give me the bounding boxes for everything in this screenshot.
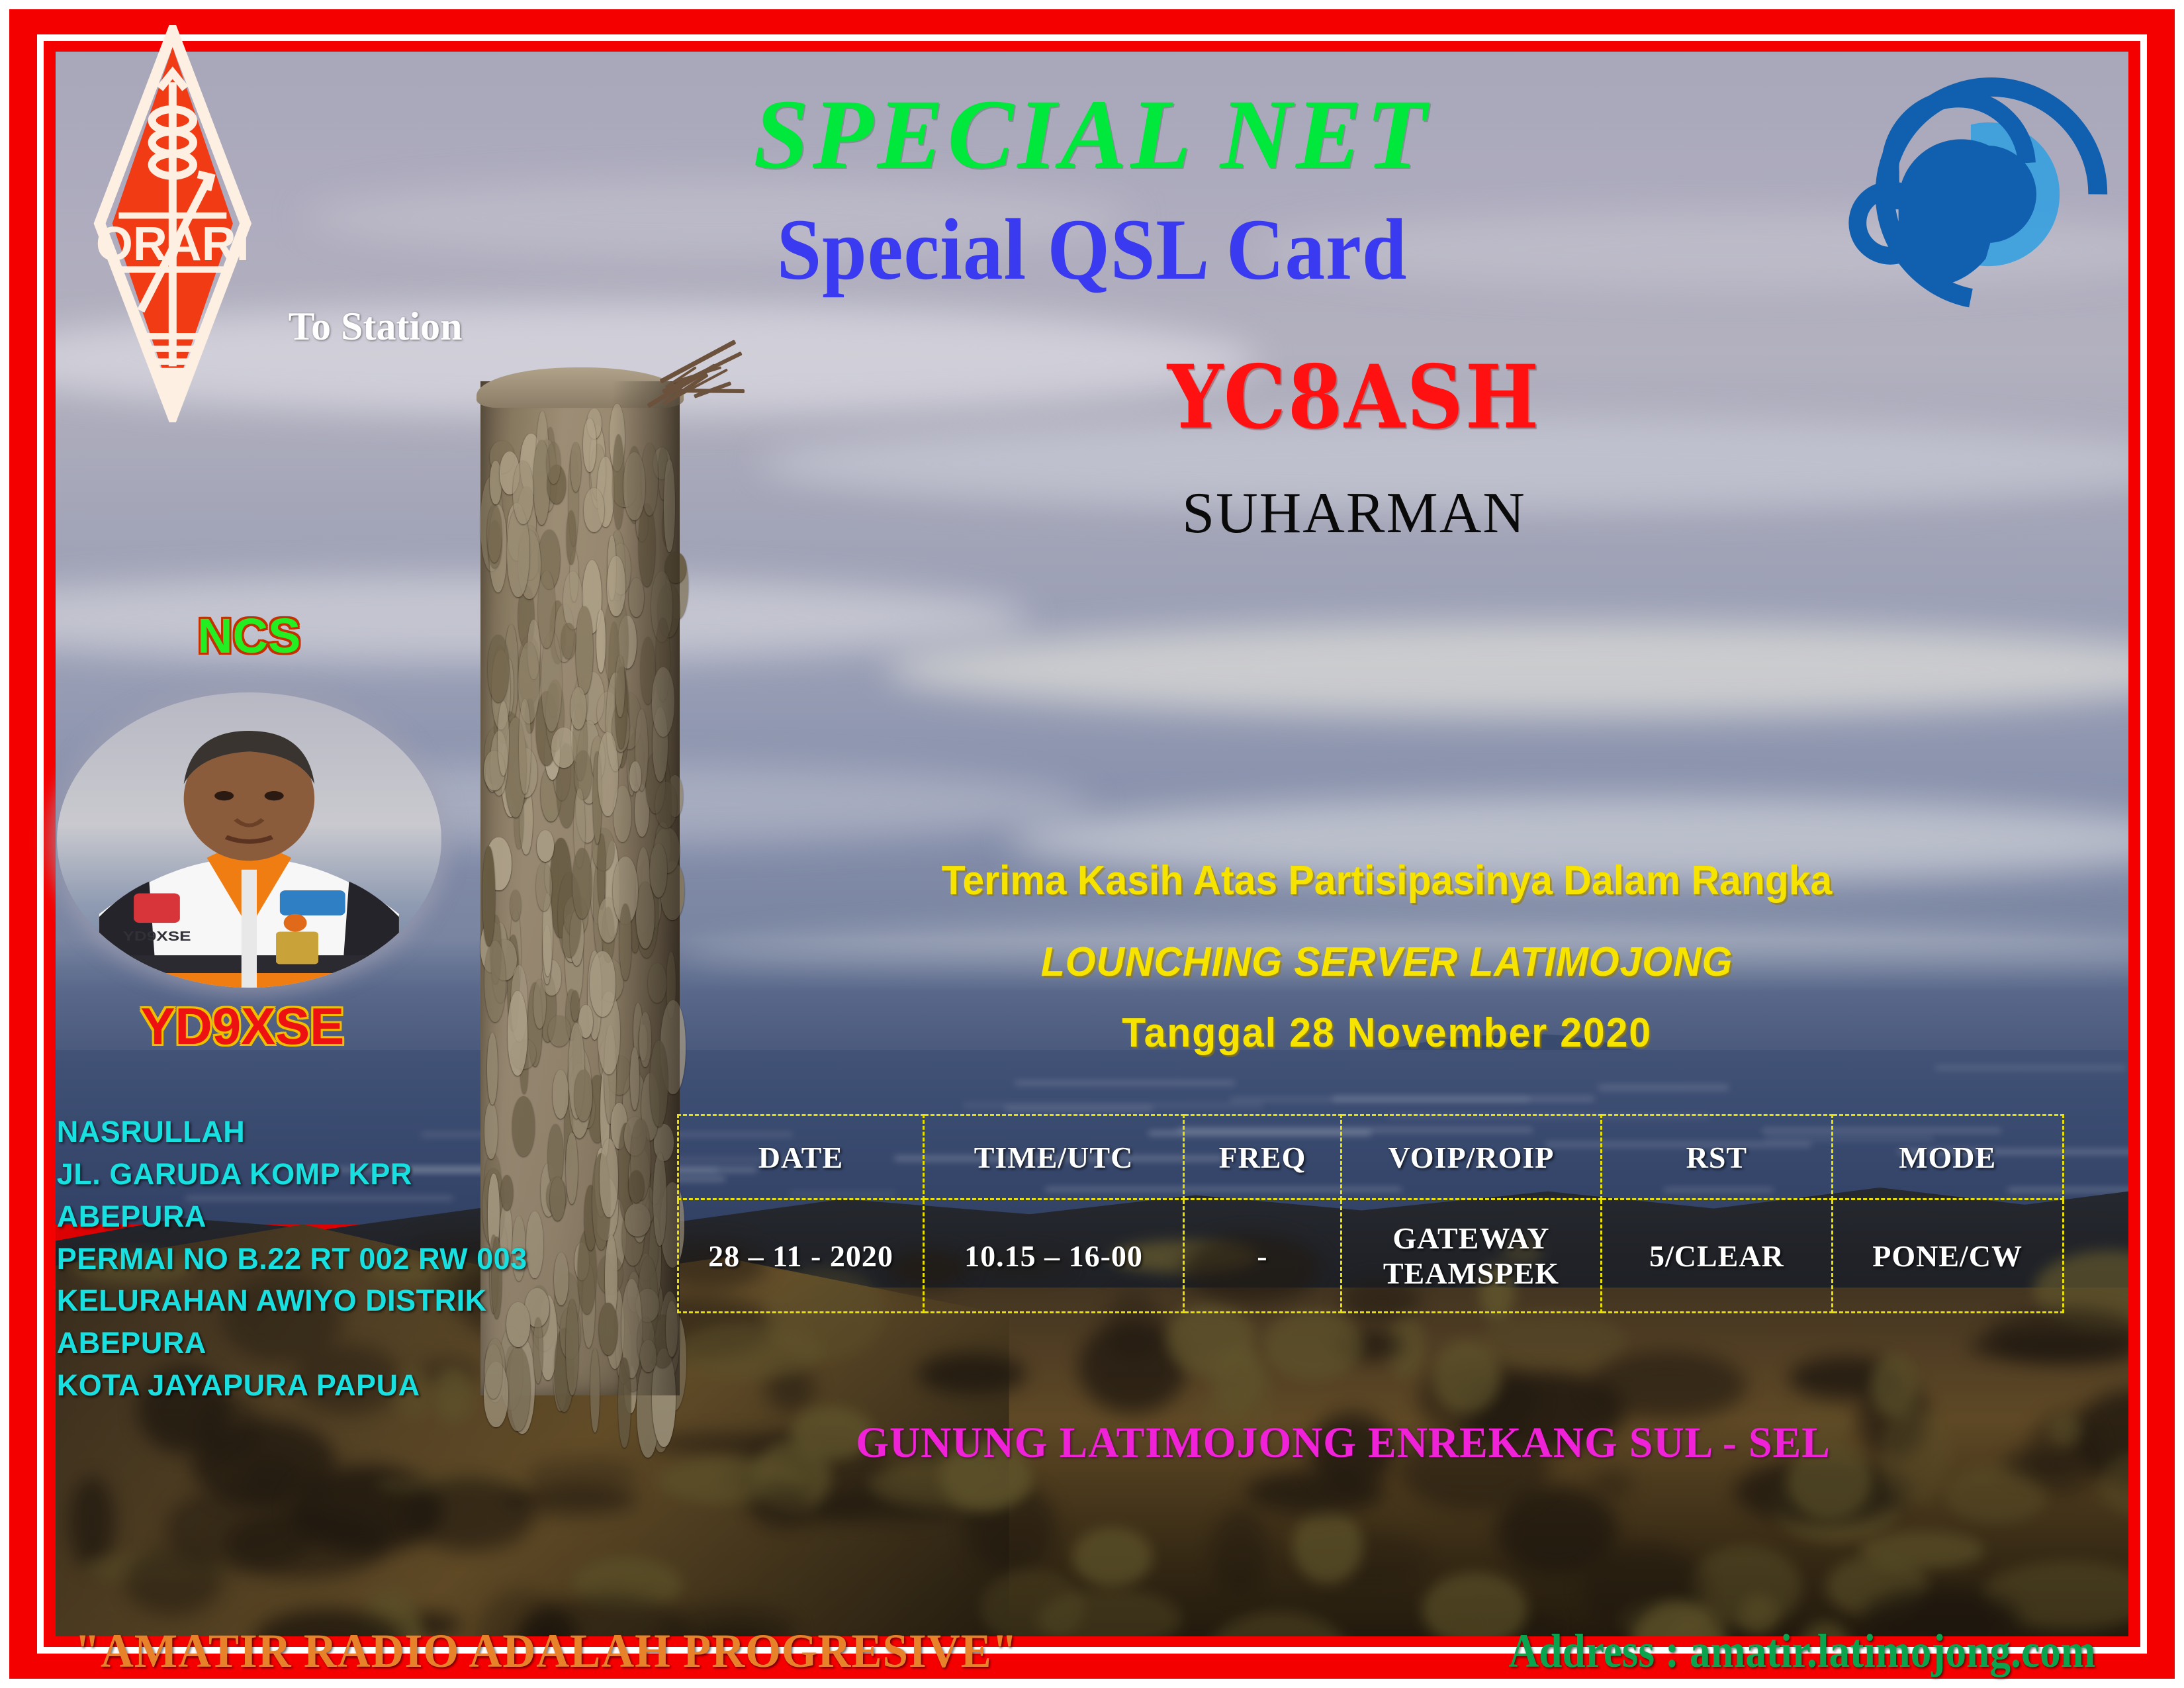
announcement-line-2: LOUNCHING SERVER LATIMOJONG — [733, 939, 2040, 986]
motto-text: "AMATIR RADIO ADALAH PROGRESIVE" — [74, 1624, 1017, 1679]
table-row: 28 – 11 - 2020 10.15 – 16-00 - GATEWAY T… — [678, 1199, 2064, 1313]
cell-voip-line1: GATEWAY — [1392, 1221, 1549, 1255]
table-header-row: DATE TIME/UTC FREQ VOIP/ROIP RST MODE — [678, 1115, 2064, 1199]
address-line: JL. GARUDA KOMP KPR — [57, 1153, 668, 1196]
address-block: NASRULLAHJL. GARUDA KOMP KPRABEPURAPERMA… — [57, 1111, 668, 1407]
uniform-callsign-text: YD9XSE — [122, 928, 191, 943]
column-header-rst: RST — [1601, 1115, 1832, 1199]
operator-name: SUHARMAN — [830, 485, 1878, 543]
address-line: ABEPURA — [57, 1322, 668, 1364]
ncs-label: NCS — [74, 608, 424, 664]
announcement-line-3: Tanggal 28 November 2020 — [733, 1009, 2040, 1056]
address-line: ABEPURA — [57, 1196, 668, 1238]
address-line: PERMAI NO B.22 RT 002 RW 003 — [57, 1238, 668, 1280]
cell-mode: PONE/CW — [1832, 1199, 2063, 1313]
to-station-label: To Station — [289, 304, 463, 350]
operator-portrait: YD9XSE — [57, 692, 441, 988]
page-subtitle: Special QSL Card — [87, 206, 2097, 293]
web-address: Address : amatir.latimojong.com — [1509, 1624, 2096, 1679]
callsign-value: YC8ASH — [830, 353, 1878, 441]
column-header-freq: FREQ — [1184, 1115, 1342, 1199]
address-line: NASRULLAH — [57, 1111, 668, 1153]
announcement-line-1: Terima Kasih Atas Partisipasinya Dalam R… — [733, 857, 2040, 904]
cell-time: 10.15 – 16-00 — [923, 1199, 1183, 1313]
address-line: KELURAHAN AWIYO DISTRIK — [57, 1280, 668, 1322]
ncs-callsign: YD9XSE — [35, 996, 450, 1056]
event-location: GUNUNG LATIMOJONG ENREKANG SUL - SEL — [633, 1418, 2053, 1468]
page-title: SPECIAL NET — [0, 85, 2184, 184]
column-header-time: TIME/UTC — [923, 1115, 1183, 1199]
cell-rst: 5/CLEAR — [1601, 1199, 1832, 1313]
column-header-voip: VOIP/ROIP — [1341, 1115, 1601, 1199]
cell-date: 28 – 11 - 2020 — [678, 1199, 924, 1313]
column-header-date: DATE — [678, 1115, 924, 1199]
cell-voip-line2: TEAMSPEK — [1383, 1256, 1559, 1290]
column-header-mode: MODE — [1832, 1115, 2063, 1199]
card-content: ORARI SPECIAL NET Special QSL Card — [0, 0, 2184, 1688]
qso-details-table: DATE TIME/UTC FREQ VOIP/ROIP RST MODE 28… — [677, 1114, 2064, 1313]
qsl-card: ORARI SPECIAL NET Special QSL Card — [0, 0, 2184, 1688]
cell-freq: - — [1184, 1199, 1342, 1313]
address-line: KOTA JAYAPURA PAPUA — [57, 1364, 668, 1407]
cell-voip: GATEWAY TEAMSPEK — [1341, 1199, 1601, 1313]
